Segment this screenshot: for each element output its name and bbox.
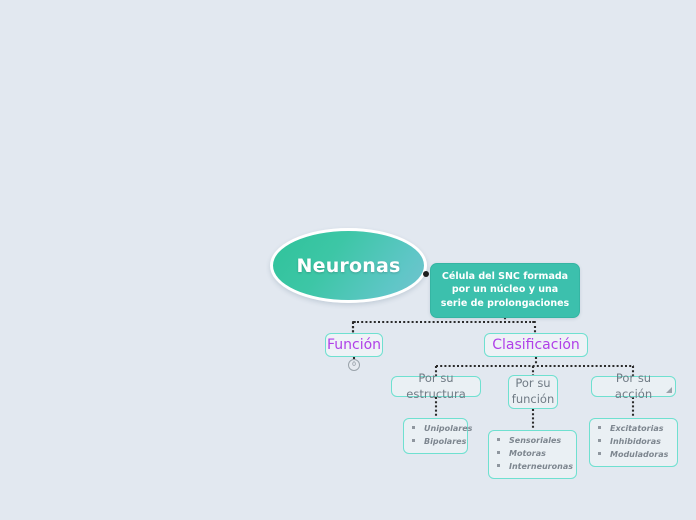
bullet-icon xyxy=(412,439,415,442)
list-item: Sensoriales xyxy=(494,435,570,448)
topic-node-por-su-estructura-label: Por su estructura xyxy=(399,371,473,402)
mindmap-canvas[interactable]: Neuronas Célula del SNC formada por un n… xyxy=(0,0,696,520)
root-node-label: Neuronas xyxy=(297,255,401,277)
list-item: Excitatorias xyxy=(595,423,671,436)
topic-node-por-su-funcion[interactable]: Por su función xyxy=(508,375,558,409)
list-item-label: Unipolares xyxy=(424,423,472,436)
bullet-icon xyxy=(497,451,500,454)
bullet-icon xyxy=(598,439,601,442)
list-item-label: Motoras xyxy=(509,448,546,461)
list-item: Interneuronas xyxy=(494,461,570,474)
list-item-label: Interneuronas xyxy=(509,461,573,474)
resize-handle-icon[interactable] xyxy=(666,387,672,393)
note-node-text: Célula del SNC formada por un núcleo y u… xyxy=(439,270,571,310)
bullet-icon xyxy=(497,464,500,467)
bullet-icon xyxy=(497,438,500,441)
topic-node-por-su-accion-label: Por su acción xyxy=(599,371,668,402)
list-item: Inhibidoras xyxy=(595,436,671,449)
list-item: Moduladoras xyxy=(595,449,671,462)
list-item-label: Sensoriales xyxy=(509,435,561,448)
bullet-list-su-funcion: Sensoriales Motoras Interneuronas xyxy=(494,435,570,474)
collapse-count-badge-icon[interactable]: 0 xyxy=(348,359,360,371)
bullet-icon xyxy=(598,426,601,429)
note-node-definicion[interactable]: Célula del SNC formada por un núcleo y u… xyxy=(430,263,580,318)
bullet-icon xyxy=(598,452,601,455)
root-node-neuronas[interactable]: Neuronas xyxy=(270,228,427,303)
list-item: Unipolares xyxy=(409,423,461,436)
topic-node-por-su-estructura[interactable]: Por su estructura xyxy=(391,376,481,397)
topic-node-por-su-funcion-label: Por su función xyxy=(512,376,554,407)
list-item-label: Moduladoras xyxy=(610,449,668,462)
topic-node-por-su-accion[interactable]: Por su acción xyxy=(591,376,676,397)
bullet-icon xyxy=(412,426,415,429)
list-item: Motoras xyxy=(494,448,570,461)
leaf-node-funcion-items[interactable]: Sensoriales Motoras Interneuronas xyxy=(488,430,577,479)
connector-dot-icon xyxy=(423,271,429,277)
list-item-label: Excitatorias xyxy=(610,423,664,436)
topic-node-funcion-label: Función xyxy=(327,337,381,354)
topic-node-funcion[interactable]: Función xyxy=(325,333,383,357)
bullet-list-accion: Excitatorias Inhibidoras Moduladoras xyxy=(595,423,671,462)
bullet-list-estructura: Unipolares Bipolares xyxy=(409,423,461,449)
list-item-label: Inhibidoras xyxy=(610,436,661,449)
list-item-label: Bipolares xyxy=(424,436,466,449)
list-item: Bipolares xyxy=(409,436,461,449)
leaf-node-estructura-items[interactable]: Unipolares Bipolares xyxy=(403,418,468,454)
topic-node-clasificacion-label: Clasificación xyxy=(492,337,580,354)
topic-node-clasificacion[interactable]: Clasificación xyxy=(484,333,588,357)
leaf-node-accion-items[interactable]: Excitatorias Inhibidoras Moduladoras xyxy=(589,418,678,467)
